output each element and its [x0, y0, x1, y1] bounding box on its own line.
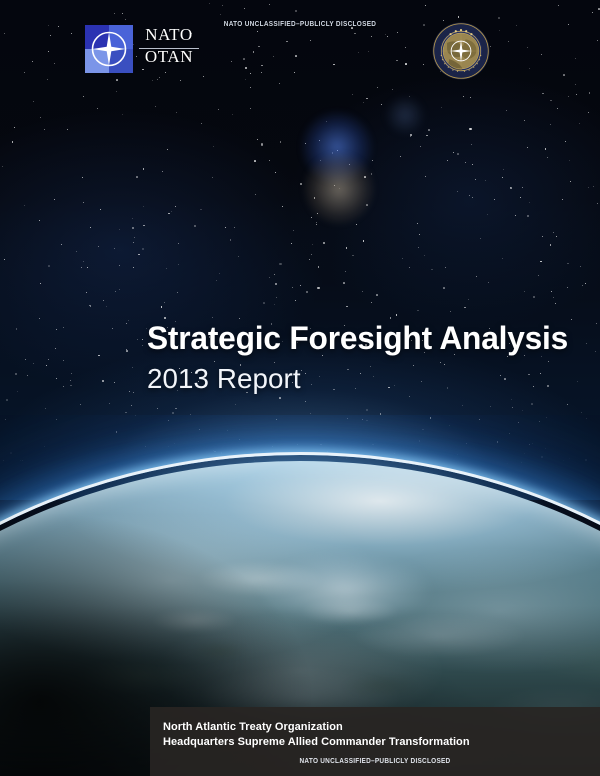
nato-wordmark-divider [139, 48, 199, 49]
nato-wordmark-line2: OTAN [139, 46, 199, 68]
nato-compass-star-icon [89, 29, 129, 69]
cloud-mass [230, 535, 460, 645]
page-title: Strategic Foresight Analysis [147, 319, 568, 357]
allied-command-transformation-seal-icon [432, 22, 490, 80]
nato-wordmark-line1: NATO [139, 24, 199, 46]
page-subtitle: 2013 Report [147, 362, 301, 396]
nato-flag-icon [85, 25, 133, 73]
nato-logo: NATO OTAN [85, 25, 195, 73]
footer-band: North Atlantic Treaty Organization Headq… [150, 707, 600, 776]
report-cover: NATO UNCLASSIFIED–PUBLICLY DISCLOSED NAT… [0, 0, 600, 776]
classification-footer: NATO UNCLASSIFIED–PUBLICLY DISCLOSED [182, 756, 569, 765]
classification-header: NATO UNCLASSIFIED–PUBLICLY DISCLOSED [205, 19, 394, 28]
nato-wordmark: NATO OTAN [139, 24, 199, 74]
footer-organization: North Atlantic Treaty Organization [163, 721, 343, 733]
footer-command: Headquarters Supreme Allied Commander Tr… [163, 736, 470, 748]
